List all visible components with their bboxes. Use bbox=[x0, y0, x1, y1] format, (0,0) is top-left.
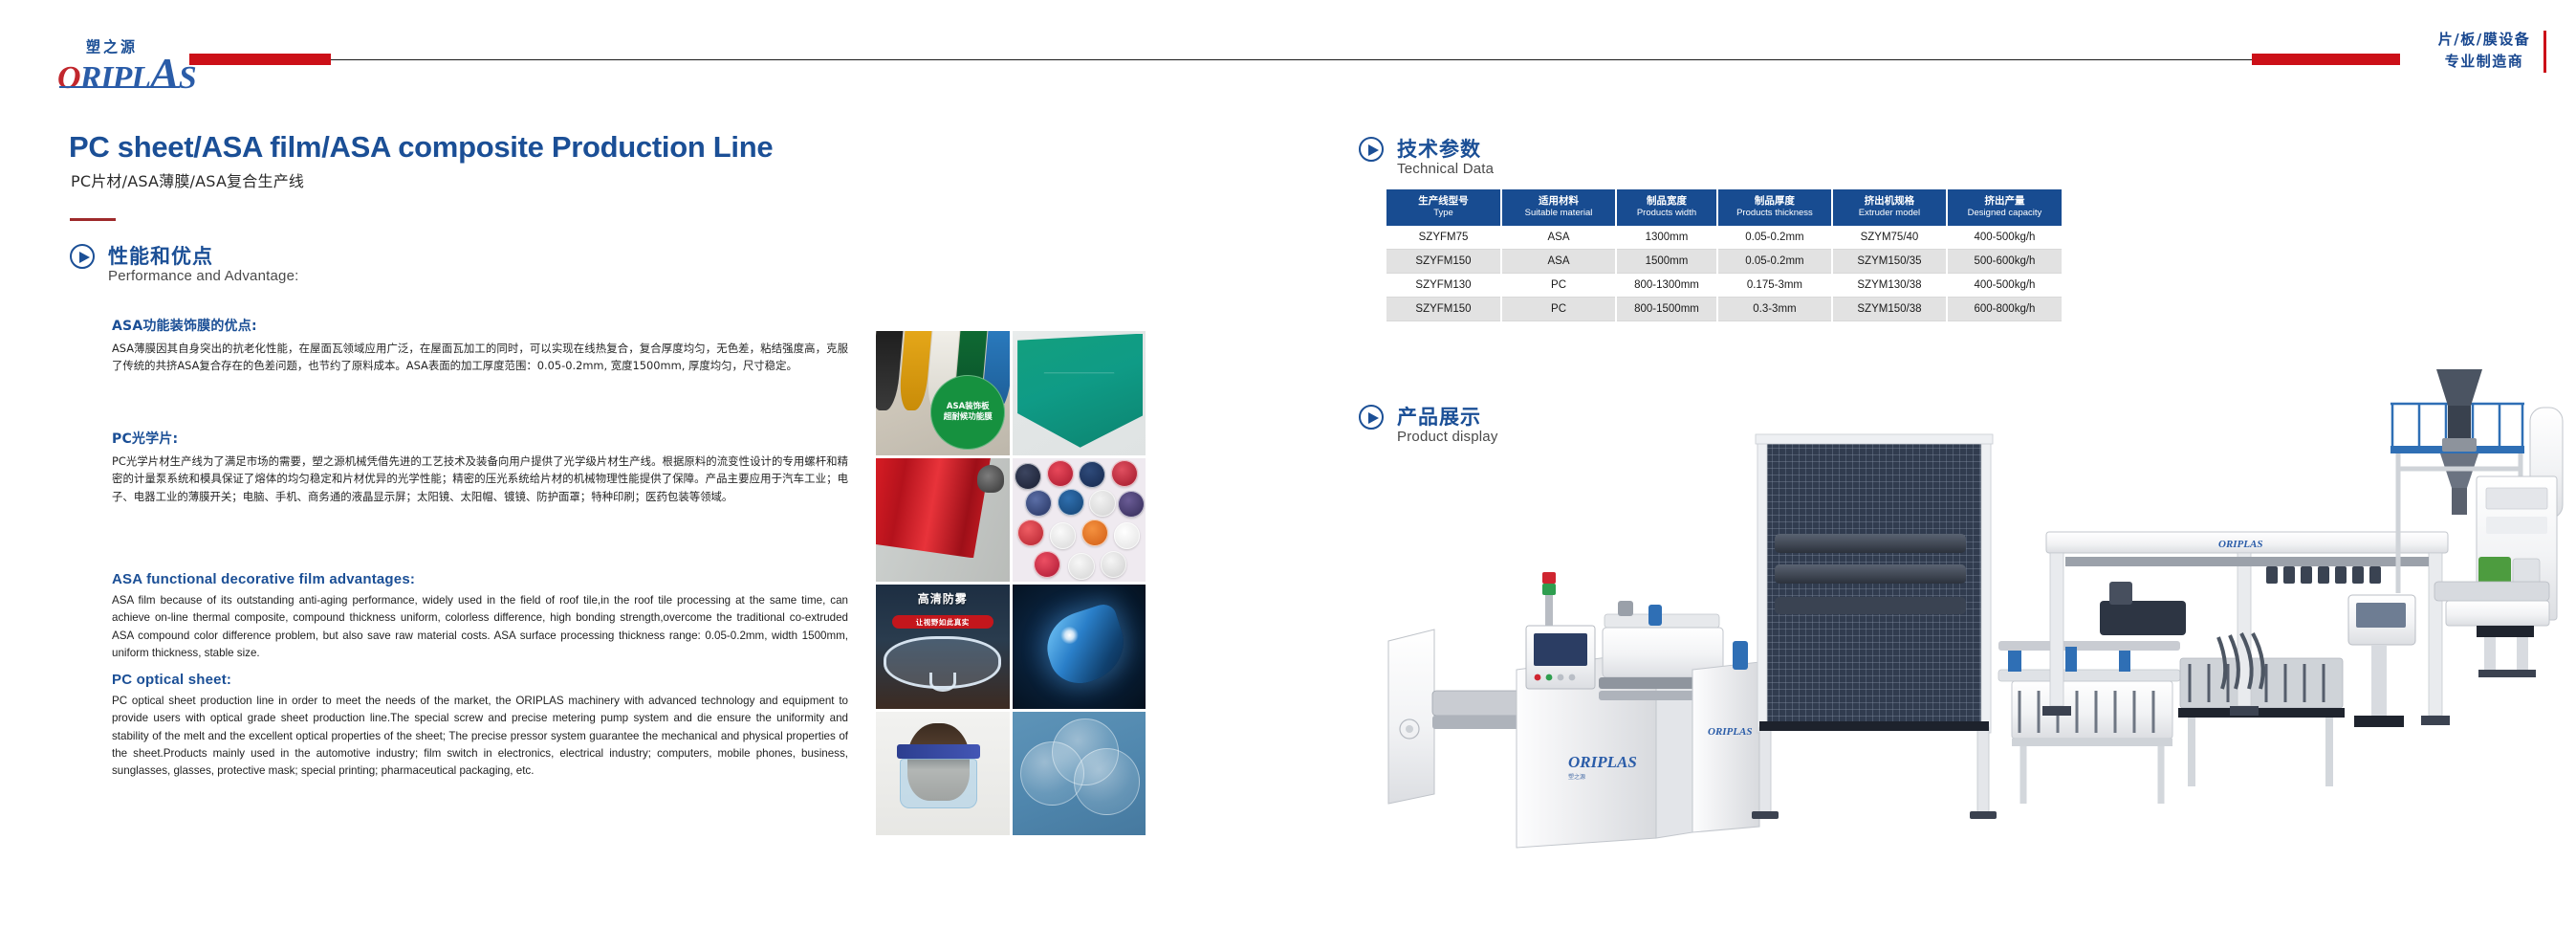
table-col-capacity: 挤出产量 Designed capacity bbox=[1947, 189, 2062, 226]
svg-text:ORIPLAS: ORIPLAS bbox=[1708, 726, 1752, 738]
cell-width: 1500mm bbox=[1616, 250, 1717, 274]
block-body: PC optical sheet production line in orde… bbox=[112, 693, 848, 781]
table-row: SZYFM150 ASA 1500mm 0.05-0.2mm SZYM150/3… bbox=[1386, 250, 2062, 274]
performance-heading-cn: 性能和优点 bbox=[108, 241, 213, 270]
cell-thickness: 0.05-0.2mm bbox=[1717, 250, 1832, 274]
col-label-en: Suitable material bbox=[1504, 208, 1613, 219]
asa-decorative-badge: ASA装饰板 超耐候功能膜 bbox=[930, 375, 1005, 450]
pellet-dish bbox=[1111, 460, 1138, 487]
col-label-cn: 适用材料 bbox=[1504, 195, 1613, 208]
cell-capacity: 500-600kg/h bbox=[1947, 250, 2062, 274]
badge-line2: 超耐候功能膜 bbox=[944, 412, 993, 423]
svg-text:ORIPLAS: ORIPLAS bbox=[2218, 539, 2262, 550]
photo-optical-lens bbox=[1013, 585, 1146, 709]
cell-width: 1300mm bbox=[1616, 226, 1717, 250]
production-line-photo: ORIPLAS 塑之源 O bbox=[1377, 354, 2572, 890]
svg-text:塑之源: 塑之源 bbox=[1568, 773, 1585, 781]
pellet-dish bbox=[1079, 461, 1105, 488]
photo-red-film-roll bbox=[876, 458, 1010, 583]
cell-type: SZYFM130 bbox=[1386, 274, 1501, 298]
page-title: PC sheet/ASA film/ASA composite Producti… bbox=[69, 130, 773, 165]
table-col-type: 生产线型号 Type bbox=[1386, 189, 1501, 226]
pellet-dish bbox=[1034, 551, 1060, 578]
photo-safety-goggles: 高清防雾 让视野如此真实 bbox=[876, 585, 1010, 709]
block-body: PC光学片材生产线为了满足市场的需要，塑之源机械凭借先进的工艺技术及装备向用户提… bbox=[112, 453, 848, 505]
badge-line1: ASA装饰板 bbox=[947, 402, 990, 412]
cell-material: PC bbox=[1501, 274, 1616, 298]
technical-heading-cn: 技术参数 bbox=[1397, 134, 1481, 163]
cell-material: PC bbox=[1501, 298, 1616, 321]
col-label-cn: 制品厚度 bbox=[1720, 195, 1829, 208]
technical-data-table: 生产线型号 Type 适用材料 Suitable material 制品宽度 P… bbox=[1386, 189, 2062, 321]
product-photo-collage: ASA装饰板 超耐候功能膜 高清防雾 让视野如此真实 bbox=[876, 331, 1146, 835]
table-row: SZYFM150 PC 800-1500mm 0.3-3mm SZYM150/3… bbox=[1386, 298, 2062, 321]
extruder-hopper-tower bbox=[2390, 369, 2563, 677]
sheet-black bbox=[876, 331, 904, 410]
col-label-cn: 生产线型号 bbox=[1388, 195, 1498, 208]
photo-colored-sheets: ASA装饰板 超耐候功能膜 bbox=[876, 331, 1010, 455]
sheet-yellow bbox=[898, 331, 932, 410]
goggles-caption-sub: 让视野如此真实 bbox=[892, 615, 993, 629]
cell-material: ASA bbox=[1501, 250, 1616, 274]
photo-face-shield bbox=[876, 712, 1010, 836]
winder-unit: ORIPLAS 塑之源 O bbox=[1388, 572, 1759, 848]
col-label-cn: 挤出机规格 bbox=[1835, 195, 1944, 208]
header-rule bbox=[189, 59, 2398, 60]
cell-width: 800-1300mm bbox=[1616, 274, 1717, 298]
text-block-asa-en: ASA functional decorative film advantage… bbox=[112, 571, 848, 662]
cell-type: SZYFM150 bbox=[1386, 250, 1501, 274]
col-label-en: Type bbox=[1388, 208, 1498, 219]
photo-lens-discs bbox=[1013, 712, 1146, 836]
table-col-width: 制品宽度 Products width bbox=[1616, 189, 1717, 226]
header-tagline-accent-bar bbox=[2543, 31, 2546, 73]
pellet-dish bbox=[1118, 491, 1145, 518]
cell-thickness: 0.3-3mm bbox=[1717, 298, 1832, 321]
pellet-dish bbox=[1025, 490, 1052, 517]
table-row: SZYFM75 ASA 1300mm 0.05-0.2mm SZYM75/40 … bbox=[1386, 226, 2062, 250]
face-shield-band bbox=[897, 744, 979, 758]
photo-green-pc-sheet bbox=[1013, 331, 1146, 455]
col-label-en: Products thickness bbox=[1720, 208, 1829, 219]
text-block-asa-cn: ASA功能装饰膜的优点: ASA薄膜因其自身突出的抗老化性能，在屋面瓦领域应用广… bbox=[112, 316, 848, 375]
cell-width: 800-1500mm bbox=[1616, 298, 1717, 321]
block-heading: ASA功能装饰膜的优点: bbox=[112, 316, 848, 335]
cell-extruder: SZYM150/38 bbox=[1832, 298, 1947, 321]
cell-type: SZYFM75 bbox=[1386, 226, 1501, 250]
logo-underline bbox=[59, 86, 180, 88]
brochure-page: 塑之源 ORIPLAS 片/板/膜设备 专业制造商 PC sheet/ASA f… bbox=[0, 0, 2576, 950]
table-header-row: 生产线型号 Type 适用材料 Suitable material 制品宽度 P… bbox=[1386, 189, 2062, 226]
cell-capacity: 600-800kg/h bbox=[1947, 298, 2062, 321]
cell-extruder: SZYM75/40 bbox=[1832, 226, 1947, 250]
cell-extruder: SZYM130/38 bbox=[1832, 274, 1947, 298]
pellet-dish bbox=[1015, 463, 1041, 490]
cell-thickness: 0.05-0.2mm bbox=[1717, 226, 1832, 250]
table-col-material: 适用材料 Suitable material bbox=[1501, 189, 1616, 226]
col-label-en: Designed capacity bbox=[1950, 208, 2060, 219]
pellet-dish bbox=[1068, 553, 1095, 580]
pellet-dish bbox=[1081, 519, 1108, 546]
pellet-dish bbox=[1050, 522, 1077, 549]
pellet-dish bbox=[1101, 551, 1127, 578]
page-header: 塑之源 ORIPLAS 片/板/膜设备 专业制造商 bbox=[0, 0, 2576, 92]
pellet-dish bbox=[1058, 489, 1084, 516]
company-logo: 塑之源 ORIPLAS bbox=[57, 36, 184, 90]
title-red-accent bbox=[70, 218, 116, 221]
play-arrow-icon bbox=[1359, 137, 1384, 162]
logo-wordmark: ORIPLAS bbox=[57, 52, 196, 96]
cell-capacity: 400-500kg/h bbox=[1947, 274, 2062, 298]
technical-heading-en: Technical Data bbox=[1397, 161, 1494, 177]
header-tagline-line2: 专业制造商 bbox=[2417, 51, 2551, 73]
cell-capacity: 400-500kg/h bbox=[1947, 226, 2062, 250]
table-row: SZYFM130 PC 800-1300mm 0.175-3mm SZYM130… bbox=[1386, 274, 2062, 298]
performance-heading-en: Performance and Advantage: bbox=[108, 268, 299, 284]
pellet-dish bbox=[1089, 490, 1116, 517]
col-label-en: Products width bbox=[1619, 208, 1714, 219]
table-col-thickness: 制品厚度 Products thickness bbox=[1717, 189, 1832, 226]
play-arrow-icon bbox=[70, 244, 95, 269]
cell-material: ASA bbox=[1501, 226, 1616, 250]
goggles-shape bbox=[884, 636, 1001, 688]
svg-text:ORIPLAS: ORIPLAS bbox=[1568, 753, 1637, 771]
photo-resin-pellet-dishes bbox=[1013, 458, 1146, 583]
pellet-dish bbox=[1047, 460, 1074, 487]
header-red-bar-right bbox=[2252, 54, 2400, 65]
block-body: ASA薄膜因其自身突出的抗老化性能，在屋面瓦领域应用广泛，在屋面瓦加工的同时，可… bbox=[112, 340, 848, 375]
cell-type: SZYFM150 bbox=[1386, 298, 1501, 321]
header-tagline-line1: 片/板/膜设备 bbox=[2417, 29, 2551, 51]
table-col-extruder: 挤出机规格 Extruder model bbox=[1832, 189, 1947, 226]
pellet-dish bbox=[1017, 519, 1044, 546]
production-line-illustration: ORIPLAS 塑之源 O bbox=[1377, 354, 2572, 890]
pellet-dish bbox=[1114, 522, 1141, 549]
cell-extruder: SZYM150/35 bbox=[1832, 250, 1947, 274]
header-tagline: 片/板/膜设备 专业制造商 bbox=[2417, 29, 2551, 74]
col-label-en: Extruder model bbox=[1835, 208, 1944, 219]
col-label-cn: 挤出产量 bbox=[1950, 195, 2060, 208]
text-block-pc-optical-en: PC optical sheet: PC optical sheet produ… bbox=[112, 672, 848, 781]
header-red-bar-left bbox=[189, 54, 331, 65]
caged-roll-stack bbox=[1752, 434, 1997, 819]
cell-thickness: 0.175-3mm bbox=[1717, 274, 1832, 298]
col-label-cn: 制品宽度 bbox=[1619, 195, 1714, 208]
lens-disc bbox=[1074, 748, 1141, 815]
block-heading: PC光学片: bbox=[112, 429, 848, 448]
block-heading: PC optical sheet: bbox=[112, 672, 848, 688]
page-subtitle: PC片材/ASA薄膜/ASA复合生产线 bbox=[71, 168, 304, 191]
goggles-caption-main: 高清防雾 bbox=[876, 590, 1010, 607]
block-body: ASA film because of its outstanding anti… bbox=[112, 592, 848, 662]
face-shield-visor bbox=[900, 759, 977, 808]
text-block-pc-optical-cn: PC光学片: PC光学片材生产线为了满足市场的需要，塑之源机械凭借先进的工艺技术… bbox=[112, 429, 848, 505]
block-heading: ASA functional decorative film advantage… bbox=[112, 571, 848, 587]
